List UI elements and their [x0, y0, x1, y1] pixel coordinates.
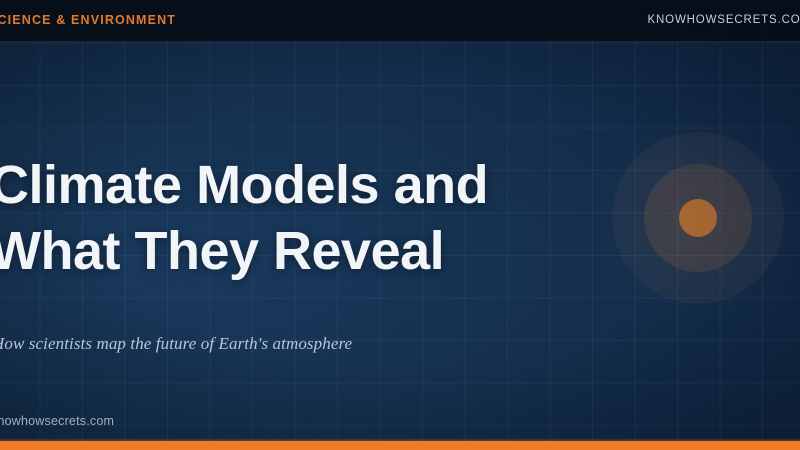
site-name-label: KNOWHOWSECRETS.COM	[647, 14, 800, 26]
headline-block: Climate Models and What They Reveal	[0, 152, 650, 284]
headline-line-2: What They Reveal	[0, 218, 650, 284]
footer-url-label: knowhowsecrets.com	[0, 414, 114, 428]
headline-line-1: Climate Models and	[0, 152, 650, 218]
top-bar: SCIENCE & ENVIRONMENT KNOWHOWSECRETS.COM	[0, 0, 800, 42]
circle-core-dot	[679, 199, 717, 237]
category-kicker: SCIENCE & ENVIRONMENT	[0, 13, 176, 27]
bottom-accent-bar	[0, 441, 800, 450]
title-card: SCIENCE & ENVIRONMENT KNOWHOWSECRETS.COM…	[0, 0, 800, 450]
subtitle-text: How scientists map the future of Earth's…	[0, 334, 352, 354]
